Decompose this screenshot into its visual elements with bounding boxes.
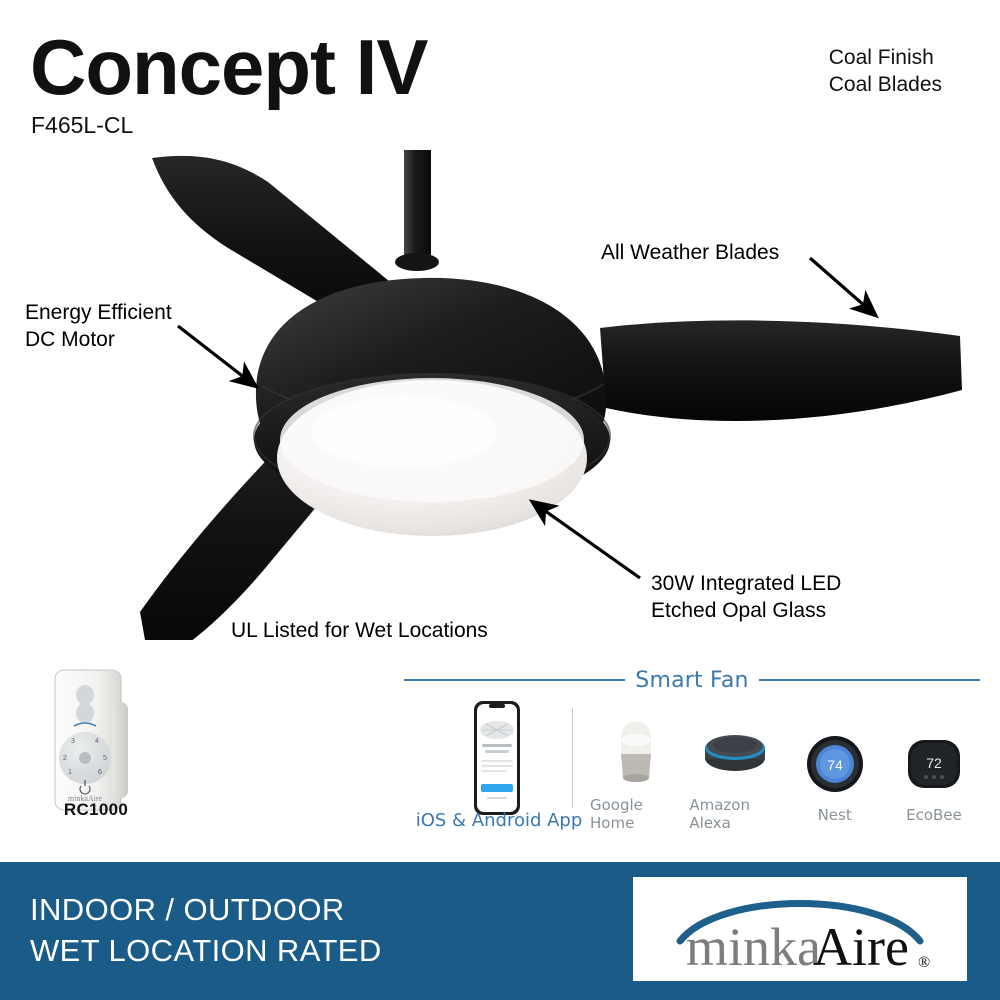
device-art: 72	[902, 702, 966, 800]
logo-text-minka: minka	[686, 917, 821, 975]
ceiling-fan-illustration	[0, 140, 1000, 640]
model-number: F465L-CL	[31, 112, 133, 139]
svg-text:2: 2	[63, 755, 67, 762]
compatible-devices-list: Google Home Amazon Alexa	[590, 702, 980, 832]
glass-highlight	[312, 396, 496, 468]
device-ecobee: 72 EcoBee	[888, 702, 980, 832]
google-home-icon	[607, 710, 665, 790]
svg-text:4: 4	[95, 738, 99, 745]
remote-light-button-down[interactable]	[76, 703, 94, 723]
device-art	[699, 702, 771, 790]
callout-dc-motor: Energy Efficient DC Motor	[25, 300, 172, 353]
ecobee-thermostat-icon: 72	[902, 720, 966, 800]
callout-led-glass: 30W Integrated LED Etched Opal Glass	[651, 571, 841, 624]
callout-ul-listed: UL Listed for Wet Locations	[231, 618, 488, 645]
finish-line-1: Coal Finish	[829, 45, 942, 72]
page-title: Concept IV	[30, 28, 427, 106]
svg-text:6: 6	[98, 769, 102, 776]
finish-line-2: Coal Blades	[829, 72, 942, 99]
fan-downrod	[404, 150, 431, 260]
smart-fan-section: Smart Fan iOS & Android App	[404, 668, 980, 838]
device-google-home: Google Home	[590, 702, 682, 832]
remote-dial-center-button[interactable]	[79, 752, 91, 764]
nest-temperature-value: 74	[827, 757, 843, 773]
spec-sheet-page: Concept IV F465L-CL Coal Finish Coal Bla…	[0, 0, 1000, 1000]
phone-screen	[477, 704, 517, 812]
remote-cradle	[112, 702, 128, 798]
device-label: Google Home	[590, 796, 682, 832]
app-subtitle-line	[485, 750, 509, 753]
remote-model-label: RC1000	[36, 800, 156, 820]
svg-text:1: 1	[68, 769, 72, 776]
smart-fan-heading: Smart Fan	[635, 668, 748, 693]
app-fan-graphic	[480, 721, 514, 739]
svg-text:5: 5	[103, 755, 107, 762]
device-nest: 74 Nest	[789, 702, 881, 832]
remote-light-button-up[interactable]	[76, 685, 94, 705]
logo-registered-mark: ®	[918, 954, 930, 971]
callout-all-weather-blades: All Weather Blades	[601, 240, 779, 267]
smartphone-icon	[426, 700, 566, 816]
downrod-coupler	[395, 253, 439, 271]
amazon-echo-dot-icon	[699, 710, 771, 790]
app-primary-button[interactable]	[481, 784, 513, 792]
device-art	[607, 702, 665, 790]
logo-text-aire: Aire	[813, 917, 909, 975]
app-availability-label: iOS & Android App	[414, 810, 584, 831]
nest-thermostat-icon: 74	[803, 720, 867, 800]
phone-notch	[489, 704, 505, 708]
section-divider	[572, 708, 573, 808]
device-label: Nest	[818, 806, 852, 824]
wet-location-rating-text: INDOOR / OUTDOOR WET LOCATION RATED	[30, 889, 382, 971]
remote-control-image: 12 34 56 minkaAire	[36, 668, 156, 818]
device-label: Amazon Alexa	[689, 796, 781, 832]
fan-blade-right	[600, 320, 962, 421]
minkaaire-logo: minka Aire ®	[650, 883, 950, 975]
app-title-line	[482, 744, 512, 747]
device-art: 74	[803, 702, 867, 800]
heading-rule-right	[759, 679, 980, 681]
device-amazon-alexa: Amazon Alexa	[689, 702, 781, 832]
mobile-app-preview	[426, 700, 566, 821]
device-label: EcoBee	[906, 806, 962, 824]
heading-rule-left	[404, 679, 625, 681]
svg-text:3: 3	[71, 738, 75, 745]
smart-fan-heading-row: Smart Fan	[404, 668, 980, 692]
brand-logo: minka Aire ®	[628, 872, 972, 986]
ecobee-temperature-value: 72	[926, 755, 942, 771]
finish-description: Coal Finish Coal Blades	[829, 45, 942, 99]
fan-product-image	[0, 140, 1000, 640]
rc1000-remote-illustration: 12 34 56 minkaAire	[36, 668, 156, 818]
